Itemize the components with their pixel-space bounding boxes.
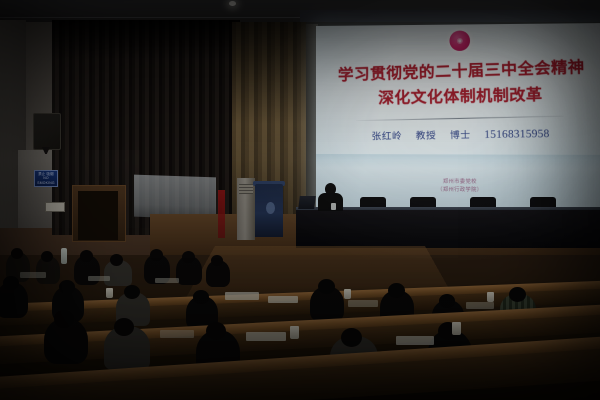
slide-footer-institution: 郑州市委党校 （郑州行政学院）: [316, 178, 600, 196]
party-emblem-mark: ◉: [457, 37, 463, 44]
slide-footer-line-2: （郑州行政学院）: [316, 186, 600, 196]
desk-paper: [225, 292, 259, 300]
audience-head: [59, 280, 75, 294]
presenter-laptop: [298, 196, 316, 209]
audience-head: [509, 287, 526, 302]
desk-paper: [160, 330, 194, 338]
side-exit-door-opening: [78, 191, 118, 240]
audience-head: [124, 285, 140, 299]
red-banner-strip: [218, 190, 225, 238]
air-conditioner-vent: [239, 184, 253, 194]
slide-title-line-2: 深化文化体制机制改革: [316, 85, 600, 109]
desk-paper: [348, 300, 378, 307]
presenter-phone: 15168315958: [484, 128, 549, 141]
desk-cup: [290, 326, 299, 339]
wall-notice-plate: [45, 202, 65, 212]
desk-paper: [268, 296, 298, 303]
audience-head: [341, 328, 362, 347]
lectern-emblem: [266, 202, 275, 214]
audience-head: [54, 310, 74, 328]
audience-head: [150, 249, 163, 261]
wall-whiteboard: [134, 175, 216, 220]
desk-paper: [466, 302, 494, 309]
desk-cup: [452, 322, 461, 335]
projection-screen: ◉ 学习贯彻党的二十届三中全会精神 深化文化体制机制改革 张红岭 教授 博士 1…: [316, 23, 600, 225]
screen-gradient-band: [316, 154, 600, 169]
audience-head: [11, 248, 23, 259]
audience-head: [318, 279, 335, 294]
audience-head: [80, 250, 93, 262]
desk-paper: [155, 278, 179, 283]
presenter-name: 张红岭: [372, 131, 403, 143]
desk-cup: [106, 288, 113, 298]
desk-paper: [88, 276, 110, 281]
no-smoking-line-2: NO SMOKING: [35, 176, 57, 185]
presenter-degree: 博士: [450, 130, 471, 141]
lecture-hall-photo: ◉ 学习贯彻党的二十届三中全会精神 深化文化体制机制改革 张红岭 教授 博士 1…: [0, 0, 600, 400]
audience-head: [439, 294, 455, 308]
no-smoking-sign: 禁止 吸烟 NO SMOKING: [34, 170, 58, 187]
desk-cup: [487, 292, 494, 302]
slide-title-line-1: 学习贯彻党的二十届三中全会精神: [316, 58, 600, 85]
desk-cup: [344, 289, 351, 299]
loudspeaker-icon: [33, 113, 61, 150]
audience-head: [193, 290, 209, 304]
slide-divider-rule: [356, 116, 564, 121]
slide-presenter-line: 张红岭 教授 博士 15168315958: [316, 125, 600, 143]
audience-head: [114, 318, 134, 336]
drape-shadow: [52, 20, 240, 60]
head-table: [296, 210, 600, 248]
desk-paper: [246, 332, 286, 341]
audience-head: [110, 254, 123, 266]
audience-head: [211, 255, 223, 266]
audience-head: [3, 276, 19, 290]
slide-title-block: 学习贯彻党的二十届三中全会精神 深化文化体制机制改革: [316, 62, 600, 106]
desk-paper: [396, 336, 434, 345]
presenter-title: 教授: [416, 130, 437, 141]
audience-head: [206, 322, 226, 340]
audience-head: [388, 283, 405, 298]
desk-bottle: [61, 248, 67, 264]
desk-paper: [20, 272, 46, 278]
presenter-cup: [331, 203, 336, 210]
no-smoking-sign-text: 禁止 吸烟 NO SMOKING: [35, 172, 57, 185]
party-emblem-logo: ◉: [449, 31, 470, 51]
audience-head: [41, 251, 53, 262]
ceiling-downlight: [229, 1, 236, 6]
audience-head: [182, 251, 195, 263]
